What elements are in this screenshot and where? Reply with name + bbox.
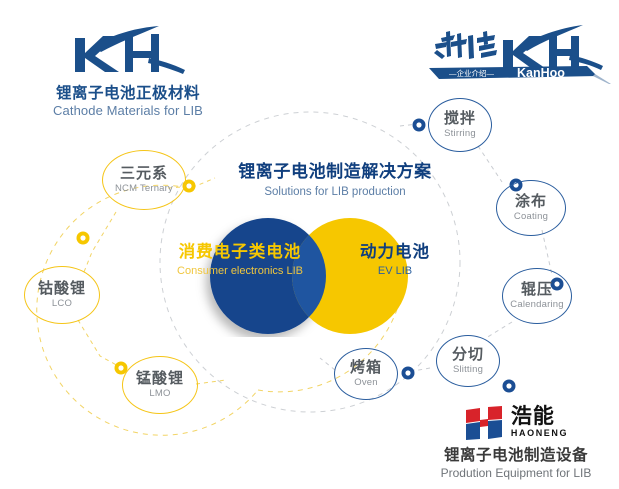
connector-dot-blue-1: [413, 119, 426, 132]
link-slitting-to-oven: [408, 368, 430, 372]
page-title-cn: 锂离子电池制造解决方案: [212, 162, 458, 182]
connector-dot-blue-4: [503, 380, 516, 393]
kanhoo-left-logo-block: 锂离子电池正极材料 Cathode Materials for LIB: [28, 24, 228, 120]
node-coating-en: Coating: [514, 211, 548, 222]
node-stirring-cn: 搅拌: [444, 111, 476, 127]
venn-label-consumer-en: Consumer electronics LIB: [160, 264, 320, 278]
link-ncm-to-lco: [84, 212, 116, 272]
haoneng-wordmark: 浩能 HAONENG: [511, 406, 568, 440]
node-slitting-en: Slitting: [453, 364, 483, 375]
node-stirring-en: Stirring: [444, 128, 476, 139]
node-ncm-ternary[interactable]: 三元系 NCM Ternary: [102, 150, 186, 210]
left-logo-caption-cn: 锂离子电池正极材料: [28, 84, 228, 103]
node-lmo-en: LMO: [149, 388, 170, 399]
haoneng-logo-row: 浩能 HAONENG: [421, 406, 611, 440]
left-logo-caption-en: Cathode Materials for LIB: [28, 103, 228, 119]
ribbon-banner-cn: —企业介绍—: [449, 68, 494, 78]
venn-label-ev-cn: 动力电池: [340, 243, 450, 262]
link-center-to-stirring: [400, 124, 418, 126]
node-calendaring-en: Calendaring: [510, 299, 563, 310]
haoneng-name-en: HAONENG: [511, 428, 568, 440]
ribbon-tail: [593, 74, 611, 84]
node-coating-cn: 涂布: [515, 194, 547, 210]
page-title-en: Solutions for LIB production: [212, 184, 458, 200]
haoneng-caption-en: Prodution Equipment for LIB: [421, 466, 611, 481]
node-ncm-ternary-en: NCM Ternary: [115, 183, 173, 194]
node-stirring[interactable]: 搅拌 Stirring: [428, 98, 492, 152]
venn-label-consumer: 消费电子类电池 Consumer electronics LIB: [160, 243, 320, 278]
connector-dot-yellow-1: [77, 232, 90, 245]
node-oven[interactable]: 烤箱 Oven: [334, 348, 398, 400]
page-title: 锂离子电池制造解决方案 Solutions for LIB production: [212, 162, 458, 200]
link-stirring-to-coating: [478, 146, 502, 182]
kanhoo-monogram-icon: —企业介绍— KanHoo: [425, 22, 613, 84]
node-lco-en: LCO: [52, 298, 72, 309]
node-slitting[interactable]: 分切 Slitting: [436, 335, 500, 387]
node-lco-cn: 钴酸锂: [38, 281, 86, 297]
link-lco-to-lmo: [78, 320, 122, 368]
venn-label-consumer-cn: 消费电子类电池: [160, 243, 320, 262]
node-oven-en: Oven: [354, 377, 378, 388]
node-lco[interactable]: 钴酸锂 LCO: [24, 266, 100, 324]
link-lmo-to-venn: [196, 380, 226, 384]
venn-label-ev-en: EV LIB: [340, 264, 450, 278]
node-lmo[interactable]: 锰酸锂 LMO: [122, 356, 198, 414]
node-calendaring[interactable]: 辊压 Calendaring: [502, 268, 572, 324]
node-lmo-cn: 锰酸锂: [136, 371, 184, 387]
infographic-canvas: 锂离子电池正极材料 Cathode Materials for LIB: [0, 0, 619, 489]
node-ncm-ternary-cn: 三元系: [120, 166, 168, 182]
haoneng-h-mark-icon: [464, 406, 504, 440]
haoneng-caption-cn: 锂离子电池制造设备: [421, 446, 611, 466]
venn-label-ev: 动力电池 EV LIB: [340, 243, 450, 278]
kh-monogram-icon: [63, 24, 193, 82]
link-calendaring-to-slitting: [486, 322, 512, 338]
haoneng-logo-block: 浩能 HAONENG 锂离子电池制造设备 Prodution Equipment…: [421, 406, 611, 481]
connector-dot-blue-5: [402, 367, 415, 380]
link-oven-to-venn: [320, 358, 335, 370]
node-calendaring-cn: 辊压: [521, 282, 553, 298]
haoneng-name-cn: 浩能: [511, 406, 568, 427]
node-coating[interactable]: 涂布 Coating: [496, 180, 566, 236]
node-oven-cn: 烤箱: [350, 360, 382, 376]
node-slitting-cn: 分切: [452, 347, 484, 363]
ribbon-banner-en: KanHoo: [517, 66, 565, 80]
kanhoo-right-logo-block: —企业介绍— KanHoo: [425, 22, 613, 84]
